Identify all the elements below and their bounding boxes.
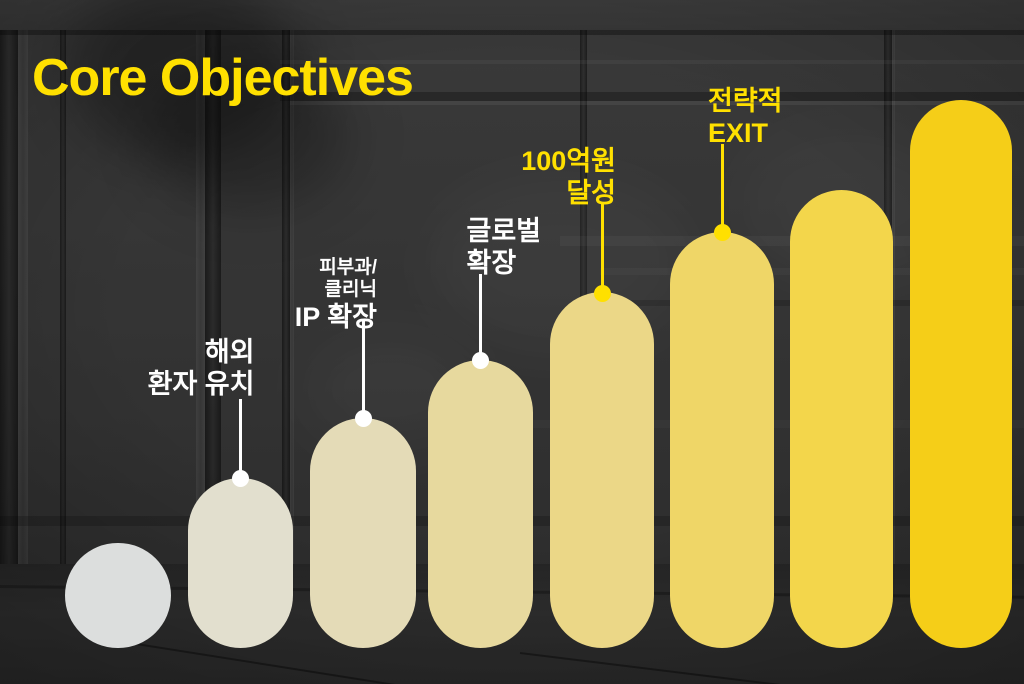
connector-line: [362, 319, 365, 418]
bar-label-main: 글로벌 확장: [467, 216, 617, 280]
chart-bar-3: [310, 418, 416, 648]
connector-line: [239, 399, 242, 478]
bar-label-sub: 피부과/ 클리닉: [225, 257, 377, 302]
connector-dot: [472, 352, 489, 369]
chart-bar-8: [910, 100, 1012, 648]
bar-label-3: 피부과/ 클리닉IP 확장: [225, 257, 377, 334]
bar-label-main: 100억원 달성: [451, 146, 616, 210]
connector-dot: [594, 285, 611, 302]
connector-dot: [232, 470, 249, 487]
chart-bar-4: [428, 360, 533, 648]
connector-line: [721, 144, 724, 232]
slide-canvas: Core Objectives 해외 환자 유치피부과/ 클리닉IP 확장글로벌…: [0, 0, 1024, 684]
page-title: Core Objectives: [32, 52, 413, 104]
bar-label-6: 전략적 EXIT: [708, 86, 868, 150]
bar-label-4: 글로벌 확장: [467, 216, 617, 280]
chart-bar-5: [550, 292, 654, 648]
bar-label-main: 해외 환자 유치: [105, 337, 255, 401]
chart-bar-2: [188, 478, 293, 648]
chart-bar-1: [65, 543, 171, 648]
connector-dot: [355, 410, 372, 427]
bar-label-main: 전략적 EXIT: [708, 86, 868, 150]
connector-line: [479, 274, 482, 360]
bar-label-2: 해외 환자 유치: [105, 337, 255, 401]
chart-bar-7: [790, 190, 893, 648]
bar-label-5: 100억원 달성: [451, 146, 616, 210]
bar-label-main: IP 확장: [225, 302, 377, 334]
connector-line: [601, 204, 604, 293]
connector-dot: [714, 224, 731, 241]
chart-bar-6: [670, 232, 774, 648]
